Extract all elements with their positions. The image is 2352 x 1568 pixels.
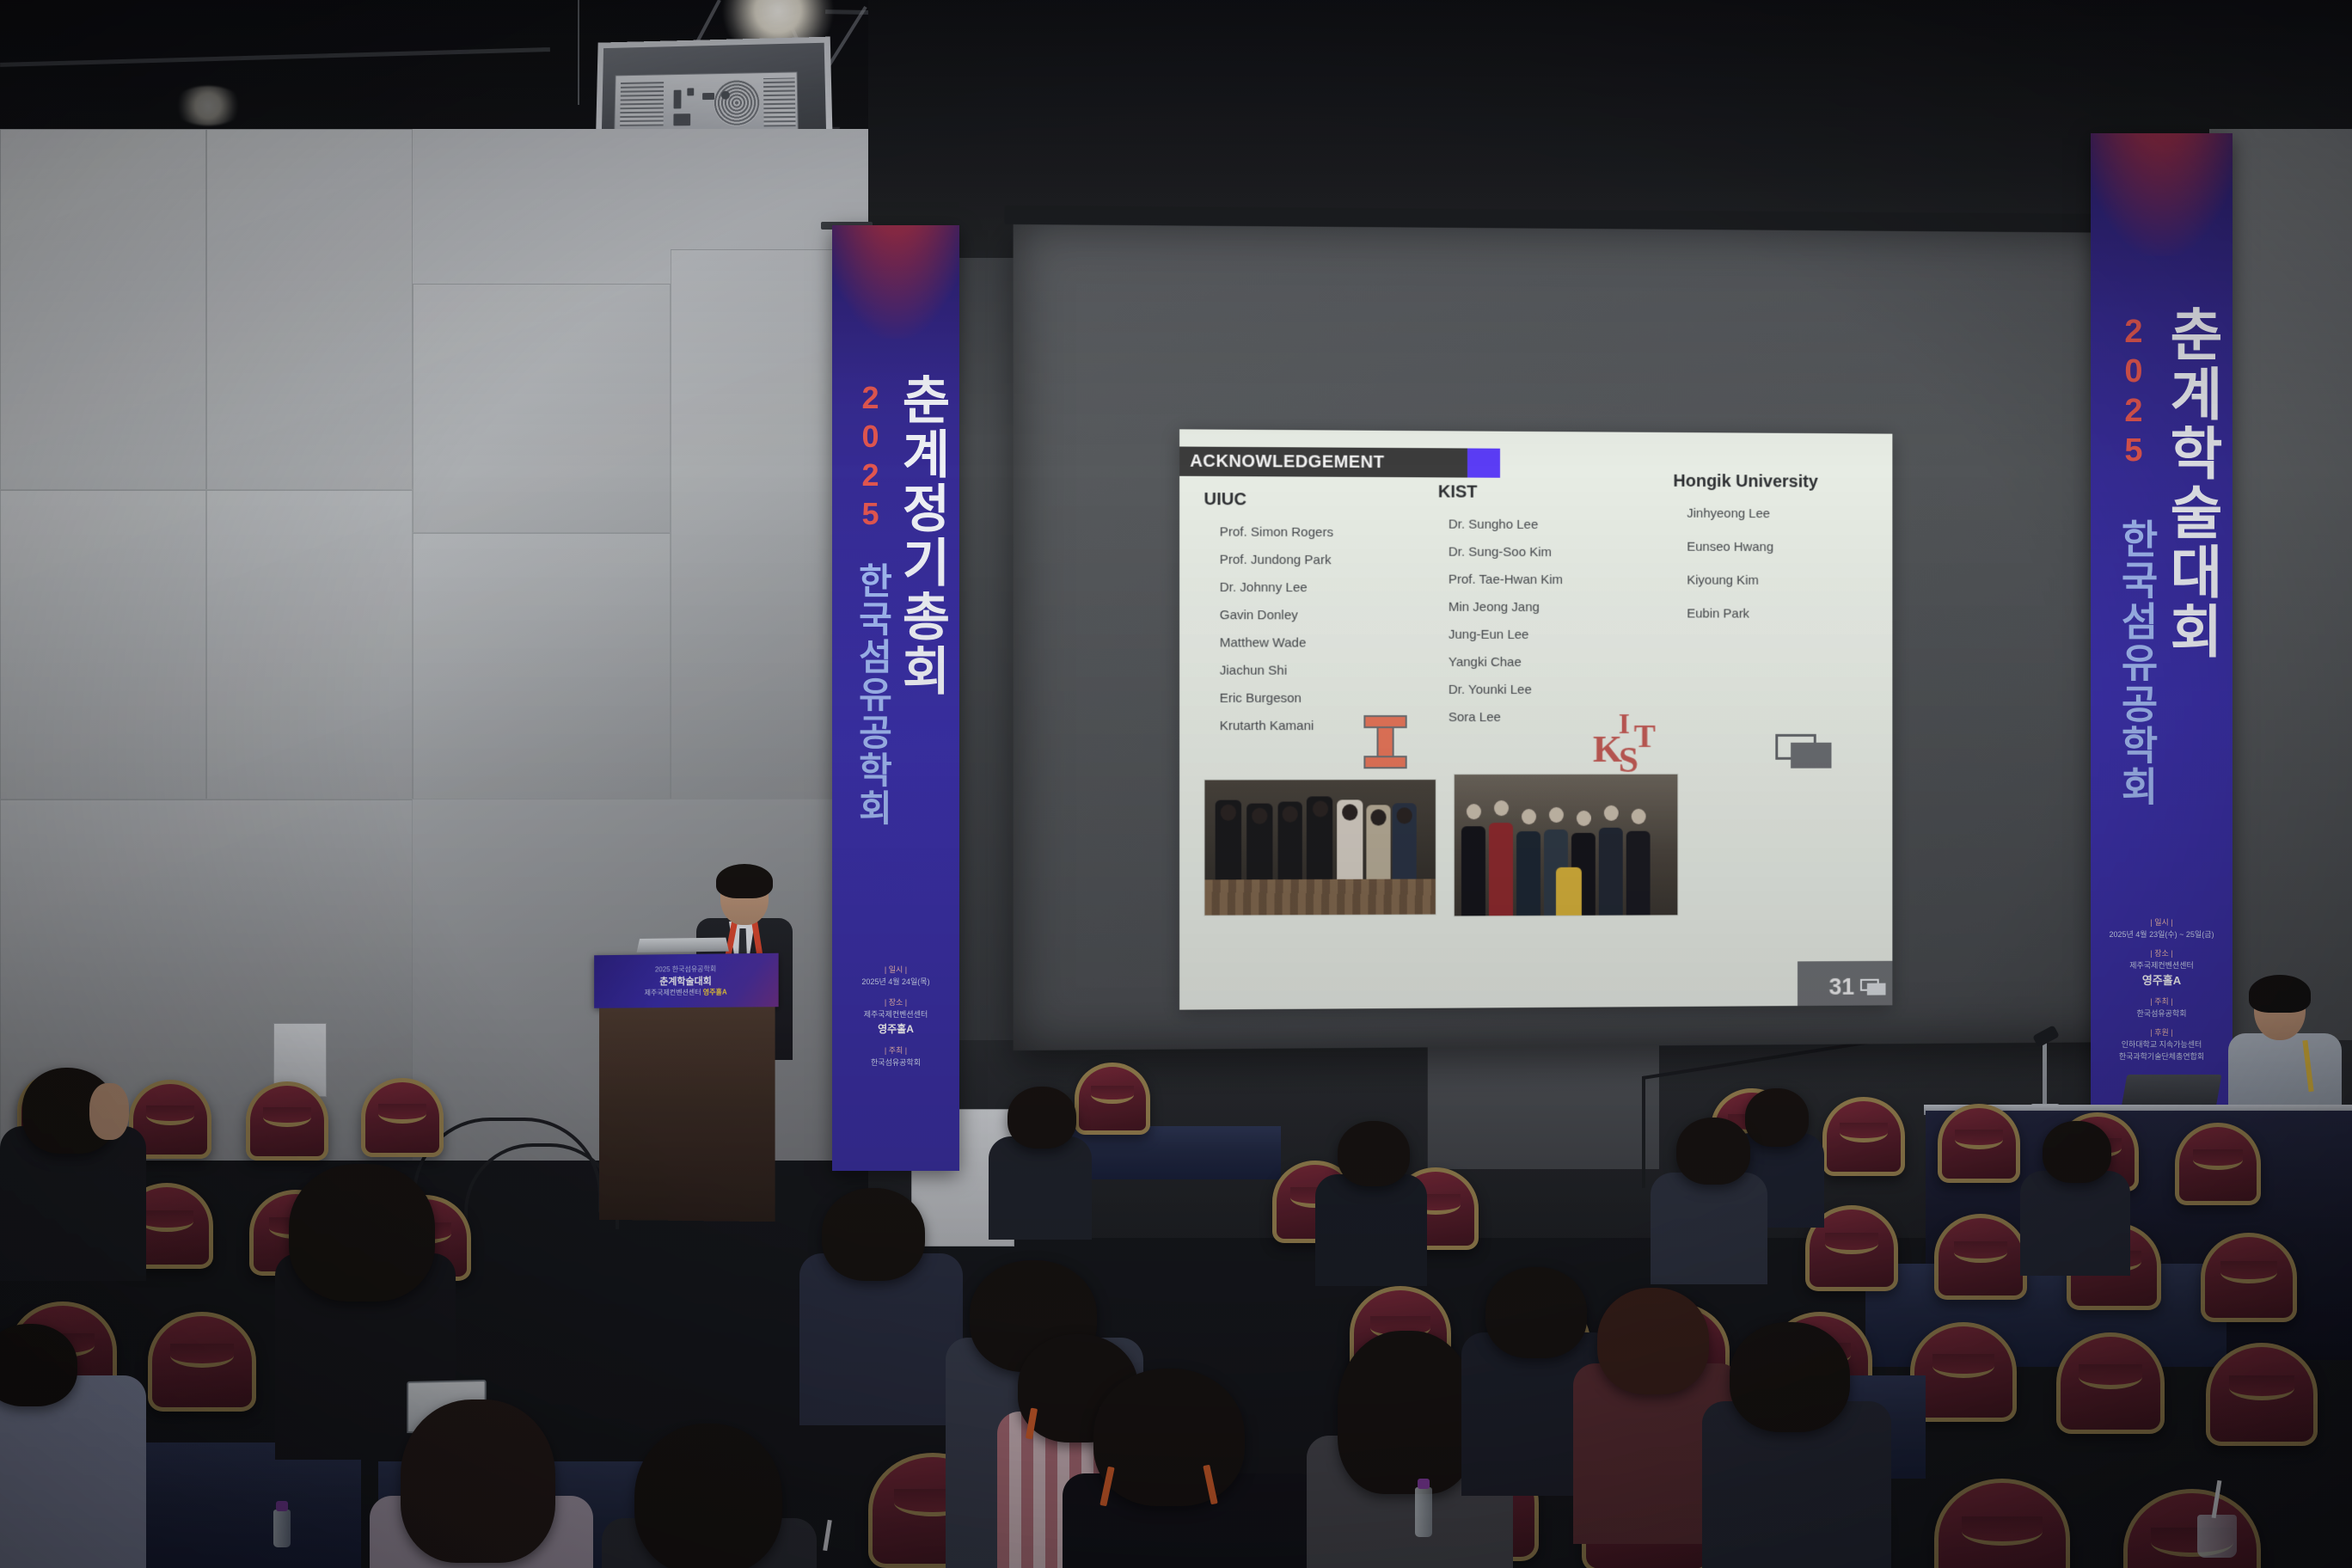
straw xyxy=(823,1520,832,1551)
banner-left-year: 2025 xyxy=(854,380,885,535)
chair[interactable] xyxy=(246,1081,328,1161)
chair[interactable] xyxy=(361,1078,444,1157)
wall-panel xyxy=(0,129,206,490)
chair[interactable] xyxy=(2175,1123,2261,1205)
chair[interactable] xyxy=(2056,1332,2165,1434)
presentation-slide: ACKNOWLEDGEMENT UIUC Prof. Simon Rogers … xyxy=(1179,429,1892,1009)
slide-title-bar: ACKNOWLEDGEMENT xyxy=(1179,446,1467,477)
projector-button xyxy=(687,88,694,95)
ack-name: Prof. Tae-Hwan Kim xyxy=(1449,573,1632,587)
attendee-head xyxy=(1338,1121,1410,1186)
ack-name: Dr. Sung-Soo Kim xyxy=(1449,546,1632,560)
ack-name: Matthew Wade xyxy=(1220,636,1408,649)
drink-cup[interactable] xyxy=(2197,1515,2237,1558)
slide-column-kist: KIST Dr. Sungho Lee Dr. Sung-Soo Kim Pro… xyxy=(1438,491,1632,738)
footer-value: 인하대학교 지속가능센터 xyxy=(2091,1039,2233,1051)
attendee-head xyxy=(1676,1118,1750,1185)
attendee-head xyxy=(289,1164,435,1302)
banner-left: 춘계정기총회 2025 한국섬유공학회 | 일시 | 2025년 4월 24일(… xyxy=(832,225,959,1171)
footer-label: | 장소 | xyxy=(2091,948,2233,960)
wall-panel xyxy=(206,129,413,490)
projector-button xyxy=(674,90,682,109)
wall-panel xyxy=(413,533,671,799)
conference-hall-scene: ACKNOWLEDGEMENT UIUC Prof. Simon Rogers … xyxy=(0,0,2352,1568)
ack-name: Prof. Jundong Park xyxy=(1220,554,1408,567)
wall-panel xyxy=(413,284,671,533)
footer-label: | 주최 | xyxy=(832,1045,959,1057)
slide-column-hongik: Hongik University Jinhyeong Lee Eunseo H… xyxy=(1673,493,1885,635)
banner-glow xyxy=(832,225,959,339)
bottle-cap xyxy=(1418,1479,1430,1489)
water-bottle[interactable] xyxy=(273,1510,291,1547)
attendee-head xyxy=(1008,1087,1076,1148)
slide-column-uiuc: UIUC Prof. Simon Rogers Prof. Jundong Pa… xyxy=(1204,490,1407,747)
ack-name: Eunseo Hwang xyxy=(1687,541,1885,554)
slide-title: ACKNOWLEDGEMENT xyxy=(1190,451,1384,472)
banner-left-footer: | 일시 | 2025년 4월 24일(목) | 장소 | 제주국제컨벤션센터 … xyxy=(832,965,959,1069)
attendee-head xyxy=(1338,1331,1475,1494)
session-chair-hair xyxy=(2249,975,2311,1013)
attendee-head xyxy=(401,1400,555,1563)
footer-label: | 후원 | xyxy=(2091,1027,2233,1039)
ack-name: Jinhyeong Lee xyxy=(1687,507,1885,521)
attendee-torso xyxy=(1651,1173,1767,1284)
banner-right-main-text: 춘계학술대회 xyxy=(2164,305,2220,661)
group-photo-right xyxy=(1454,774,1678,917)
chair[interactable] xyxy=(1075,1063,1150,1135)
chair[interactable] xyxy=(2206,1343,2318,1446)
attendee-head xyxy=(1730,1322,1850,1432)
chair[interactable] xyxy=(1910,1322,2017,1422)
footer-value: 영주홀A xyxy=(2091,972,2233,989)
attendee-face xyxy=(89,1083,129,1140)
hongik-university-logo xyxy=(1775,731,1831,772)
attendee-head xyxy=(1093,1369,1245,1506)
ack-name: Prof. Simon Rogers xyxy=(1220,525,1408,539)
footer-label: | 장소 | xyxy=(832,997,959,1009)
projector-button xyxy=(702,93,714,100)
column-heading-kist: KIST xyxy=(1438,482,1632,503)
podium-hall: 영주홀A xyxy=(703,989,727,996)
ack-name: Dr. Johnny Lee xyxy=(1220,581,1408,595)
hongik-mark-icon xyxy=(1860,978,1886,995)
chair[interactable] xyxy=(2123,1489,2261,1568)
kist-letter-i: I xyxy=(1619,710,1630,739)
podium-line-2: 춘계학술대회 xyxy=(659,974,712,989)
ack-name: Dr. Younki Lee xyxy=(1449,683,1632,696)
hongik-logo-fill xyxy=(1791,743,1831,769)
chair[interactable] xyxy=(1822,1097,1905,1176)
footer-label: | 일시 | xyxy=(2091,917,2233,929)
banner-right: 춘계학술대회 2025 한국섬유공학회 | 일시 | 2025년 4월 23일(… xyxy=(2091,133,2233,1161)
chair[interactable] xyxy=(2201,1233,2297,1322)
footer-value: 한국섬유공학회 xyxy=(2091,1008,2233,1020)
ack-name: Dr. Sungho Lee xyxy=(1449,518,1632,532)
chair[interactable] xyxy=(148,1312,256,1412)
ceiling-light xyxy=(172,86,244,126)
footer-value: 제주국제컨벤션센터 xyxy=(832,1009,959,1021)
footer-value: 영주홀A xyxy=(832,1021,959,1038)
attendee-head xyxy=(2043,1121,2111,1183)
attendee-torso xyxy=(1315,1174,1427,1286)
podium-venue: 제주국제컨벤션센터 xyxy=(645,989,703,997)
attendee-torso xyxy=(2020,1171,2130,1276)
banner-right-org: 한국섬유공학회 xyxy=(2117,518,2157,807)
podium-sign: 2025 한국섬유공학회 춘계학술대회 제주국제컨벤션센터 영주홀A xyxy=(594,953,778,1008)
projector-hang-wire xyxy=(578,0,579,105)
projector-body xyxy=(614,71,799,133)
projector-fan-icon xyxy=(714,79,761,126)
footer-value: 한국과학기술단체총연합회 xyxy=(2091,1051,2233,1063)
attendee-head xyxy=(1597,1288,1709,1394)
column-heading-uiuc: UIUC xyxy=(1204,490,1407,511)
ack-name: Kiyoung Kim xyxy=(1687,574,1885,588)
footer-value: 한국섬유공학회 xyxy=(832,1057,959,1069)
ack-name: Eubin Park xyxy=(1687,607,1885,620)
chair[interactable] xyxy=(1934,1479,2070,1568)
footer-value: 2025년 4월 23일(수) ~ 25일(금) xyxy=(2091,929,2233,941)
chair[interactable] xyxy=(1934,1214,2027,1300)
column-heading-hongik: Hongik University xyxy=(1673,472,1885,493)
banner-glow xyxy=(2091,133,2233,256)
attendee-head xyxy=(1745,1088,1809,1147)
ack-name: Jung-Eun Lee xyxy=(1449,628,1632,641)
presenter-hair xyxy=(716,864,773,898)
page-number-value: 31 xyxy=(1828,974,1854,1001)
banner-right-footer: | 일시 | 2025년 4월 23일(수) ~ 25일(금) | 장소 | 제… xyxy=(2091,917,2233,1063)
podium-line-1: 2025 한국섬유공학회 xyxy=(655,965,716,975)
banner-left-org: 한국섬유공학회 xyxy=(854,562,891,827)
wall-panel xyxy=(0,490,206,799)
water-bottle[interactable] xyxy=(1415,1487,1432,1537)
footer-label: | 주최 | xyxy=(2091,996,2233,1008)
ack-name: Gavin Donley xyxy=(1220,609,1408,622)
audience-area xyxy=(0,1092,2352,1568)
kist-logo: K I S T xyxy=(1593,708,1658,777)
ack-name: Yangki Chae xyxy=(1449,656,1632,669)
attendee-head xyxy=(1485,1267,1587,1358)
projector-button xyxy=(673,113,690,126)
attendee-head xyxy=(822,1188,925,1281)
ack-name: Min Jeong Jang xyxy=(1449,601,1632,615)
attendee-head xyxy=(0,1324,77,1406)
footer-label: | 일시 | xyxy=(832,965,959,977)
podium-laptop[interactable] xyxy=(637,938,729,952)
banner-left-main-text: 춘계정기총회 xyxy=(896,373,947,698)
ack-name: Eric Burgeson xyxy=(1220,692,1408,705)
slide-title-accent xyxy=(1467,449,1500,478)
slide-page-number: 31 xyxy=(1828,974,1885,1001)
projector-vent-icon xyxy=(620,82,664,126)
podium-line-3: 제주국제컨벤션센터 영주홀A xyxy=(645,988,727,998)
chair[interactable] xyxy=(1938,1104,2020,1183)
footer-value: 2025년 4월 24일(목) xyxy=(832,977,959,989)
uiuc-block-i-logo xyxy=(1363,715,1406,769)
group-photo-left xyxy=(1204,779,1436,916)
ack-name: Jiachun Shi xyxy=(1220,665,1408,677)
attendee-torso xyxy=(989,1136,1092,1240)
bottle-cap xyxy=(276,1501,288,1511)
attendee-head xyxy=(634,1424,782,1568)
wall-panel xyxy=(206,490,413,799)
projector-vent-icon xyxy=(763,77,796,126)
footer-value: 제주국제컨벤션센터 xyxy=(2091,960,2233,972)
kist-letter-t: T xyxy=(1634,720,1656,753)
banner-right-year: 2025 xyxy=(2117,314,2150,472)
